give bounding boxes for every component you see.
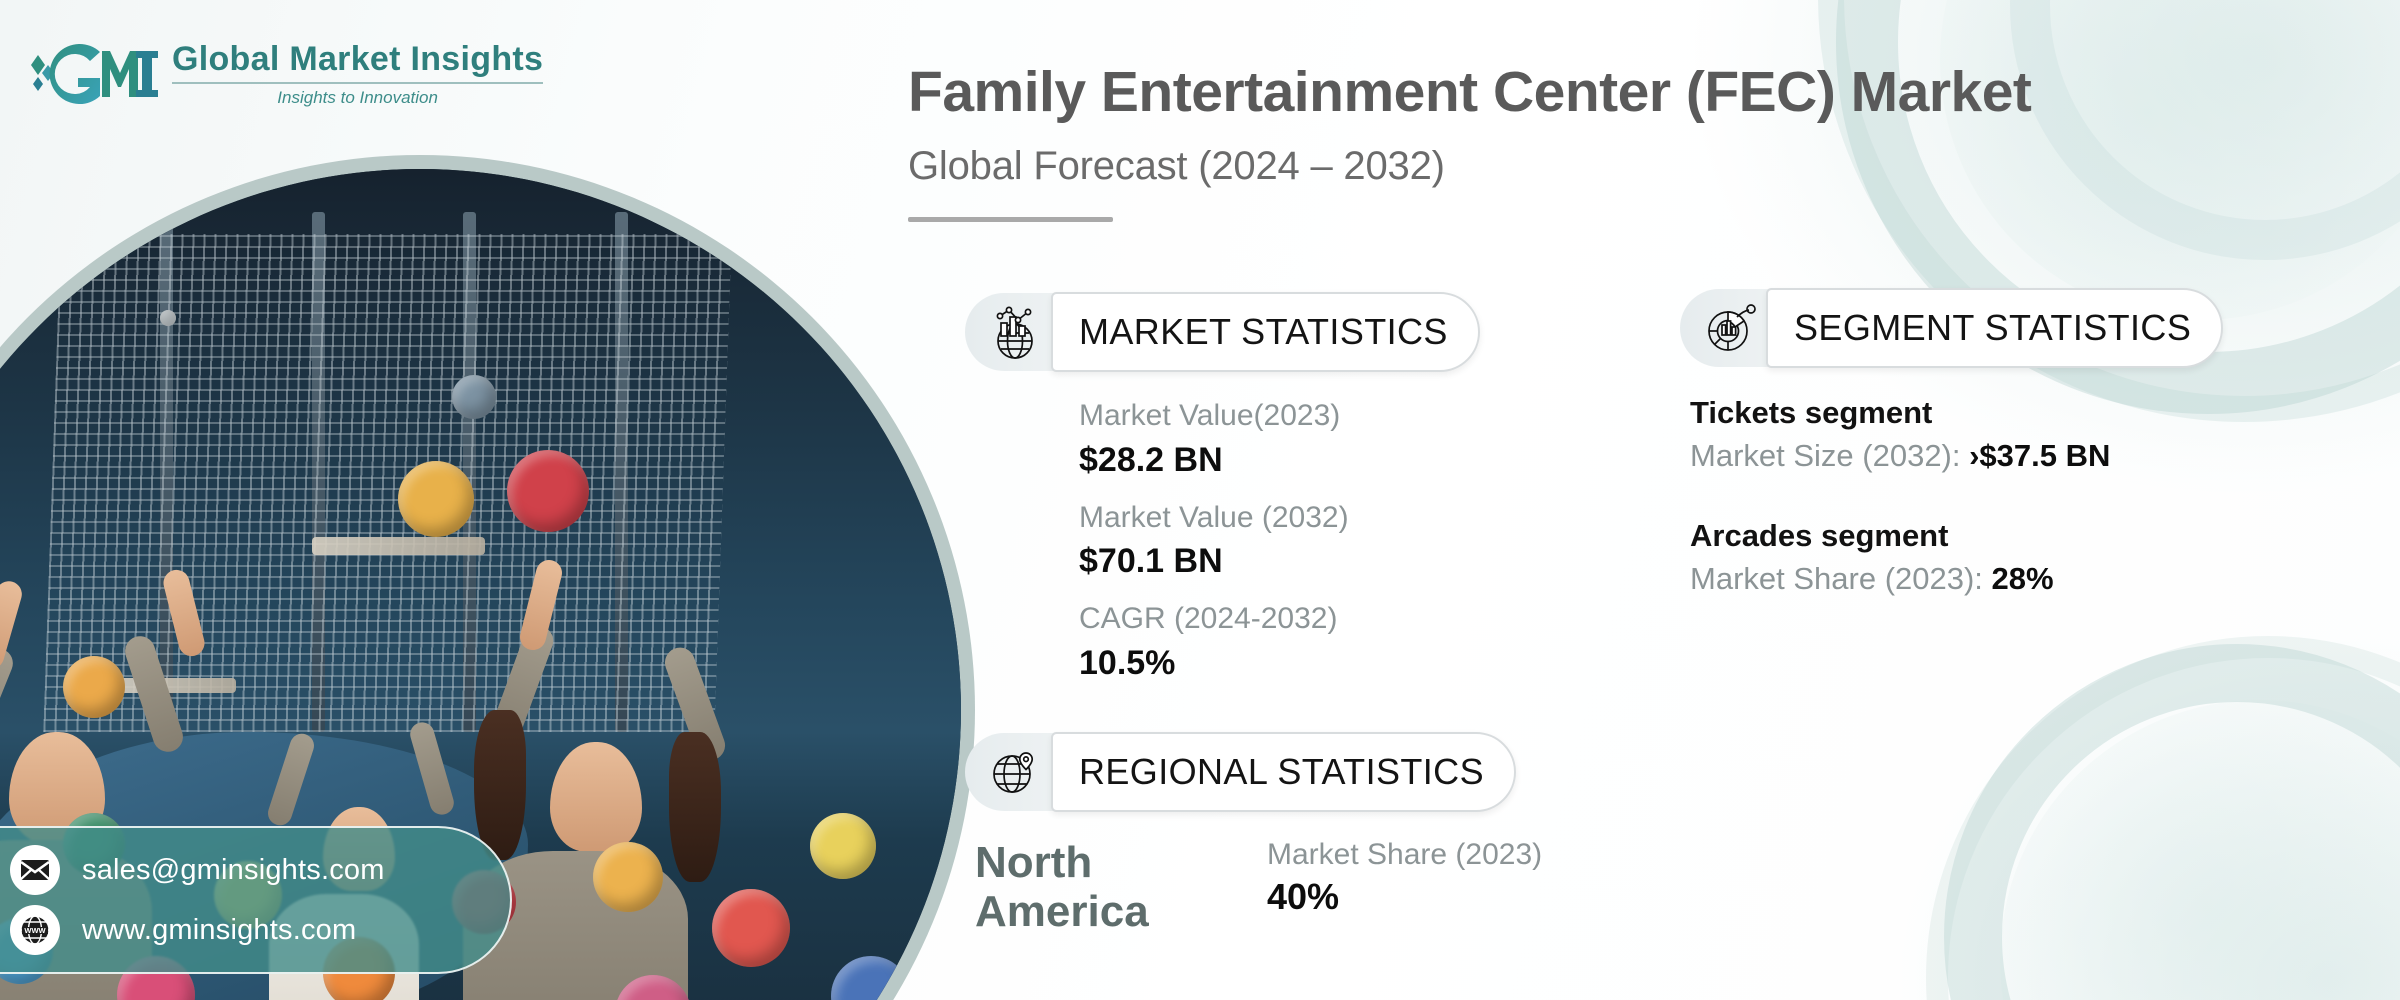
market-statistics-block: MARKET STATISTICS Market Value(2023) $28… [965,292,1480,685]
arcades-segment-label: Market Share (2023): [1690,561,1992,596]
contact-email-text: sales@gminsights.com [82,854,385,887]
envelope-icon [10,845,60,895]
market-value-2023-label: Market Value(2023) [1079,394,1480,438]
gmi-logo[interactable]: Global Market Insights Insights to Innov… [28,42,543,106]
regional-statistics-header[interactable]: REGIONAL STATISTICS [965,732,1542,812]
logo-divider [172,82,543,84]
region-metric-value: 40% [1267,876,1542,918]
contact-email-row[interactable]: sales@gminsights.com [10,845,510,895]
market-statistic-item: Market Value (2032) $70.1 BN [1079,496,1480,584]
market-statistics-items: Market Value(2023) $28.2 BN Market Value… [1079,394,1480,685]
header: Family Entertainment Center (FEC) Market… [908,62,2268,222]
gmi-diamond-mark-icon [28,43,158,105]
svg-text:WWW: WWW [24,926,46,935]
market-statistic-item: Market Value(2023) $28.2 BN [1079,394,1480,482]
segment-item-arcades: Arcades segment Market Share (2023): 28% [1690,515,2223,602]
decor-ring-bottom-right-outer [1926,636,2400,1000]
market-value-2032-value: $70.1 BN [1079,539,1480,583]
arcades-segment-value: 28% [1992,561,2054,596]
segment-statistics-header[interactable]: SEGMENT STATISTICS [1680,288,2223,368]
market-value-2023-value: $28.2 BN [1079,438,1480,482]
header-divider [908,217,1113,222]
globe-bar-chart-icon [965,293,1065,371]
regional-statistics-block: REGIONAL STATISTICS North America Market… [965,732,1542,937]
contact-website-row[interactable]: WWW www.gminsights.com [10,905,510,955]
region-metric: Market Share (2023) 40% [1267,838,1542,918]
arcades-segment-metric: Market Share (2023): 28% [1690,557,2223,602]
region-name: North America [975,838,1205,937]
tickets-segment-value: ›$37.5 BN [1969,438,2110,473]
www-globe-icon: WWW [10,905,60,955]
page-title: Family Entertainment Center (FEC) Market [908,62,2268,122]
donut-chart-icon [1680,289,1780,367]
cagr-value: 10.5% [1079,641,1480,685]
arcades-segment-title: Arcades segment [1690,515,2223,557]
infographic-canvas: sales@gminsights.com WWW www.gmin [0,0,2400,1000]
decor-ring-bottom-right-inner [1944,644,2400,1000]
market-value-2032-label: Market Value (2032) [1079,496,1480,540]
page-subtitle: Global Forecast (2024 – 2032) [908,144,2268,189]
cagr-label: CAGR (2024-2032) [1079,597,1480,641]
market-statistics-header[interactable]: MARKET STATISTICS [965,292,1480,372]
tickets-segment-title: Tickets segment [1690,392,2223,434]
contact-website-text: www.gminsights.com [82,914,356,947]
segment-item-tickets: Tickets segment Market Size (2032): ›$37… [1690,392,2223,479]
logo-tagline: Insights to Innovation [172,89,543,106]
segment-statistics-heading: SEGMENT STATISTICS [1766,288,2223,368]
logo-brand-name: Global Market Insights [172,42,543,76]
region-metric-label: Market Share (2023) [1267,838,1542,872]
decor-blob-bottom-right [2000,700,2400,1000]
market-statistics-heading: MARKET STATISTICS [1051,292,1480,372]
market-statistic-item: CAGR (2024-2032) 10.5% [1079,597,1480,685]
tickets-segment-label: Market Size (2032): [1690,438,1969,473]
segment-statistics-block: SEGMENT STATISTICS Tickets segment Marke… [1680,288,2223,602]
globe-pin-icon [965,733,1065,811]
regional-statistics-heading: REGIONAL STATISTICS [1051,732,1516,812]
regional-statistics-body: North America Market Share (2023) 40% [975,838,1542,937]
contact-pill: sales@gminsights.com WWW www.gmin [0,826,512,974]
tickets-segment-metric: Market Size (2032): ›$37.5 BN [1690,434,2223,479]
segment-statistics-items: Tickets segment Market Size (2032): ›$37… [1690,392,2223,602]
